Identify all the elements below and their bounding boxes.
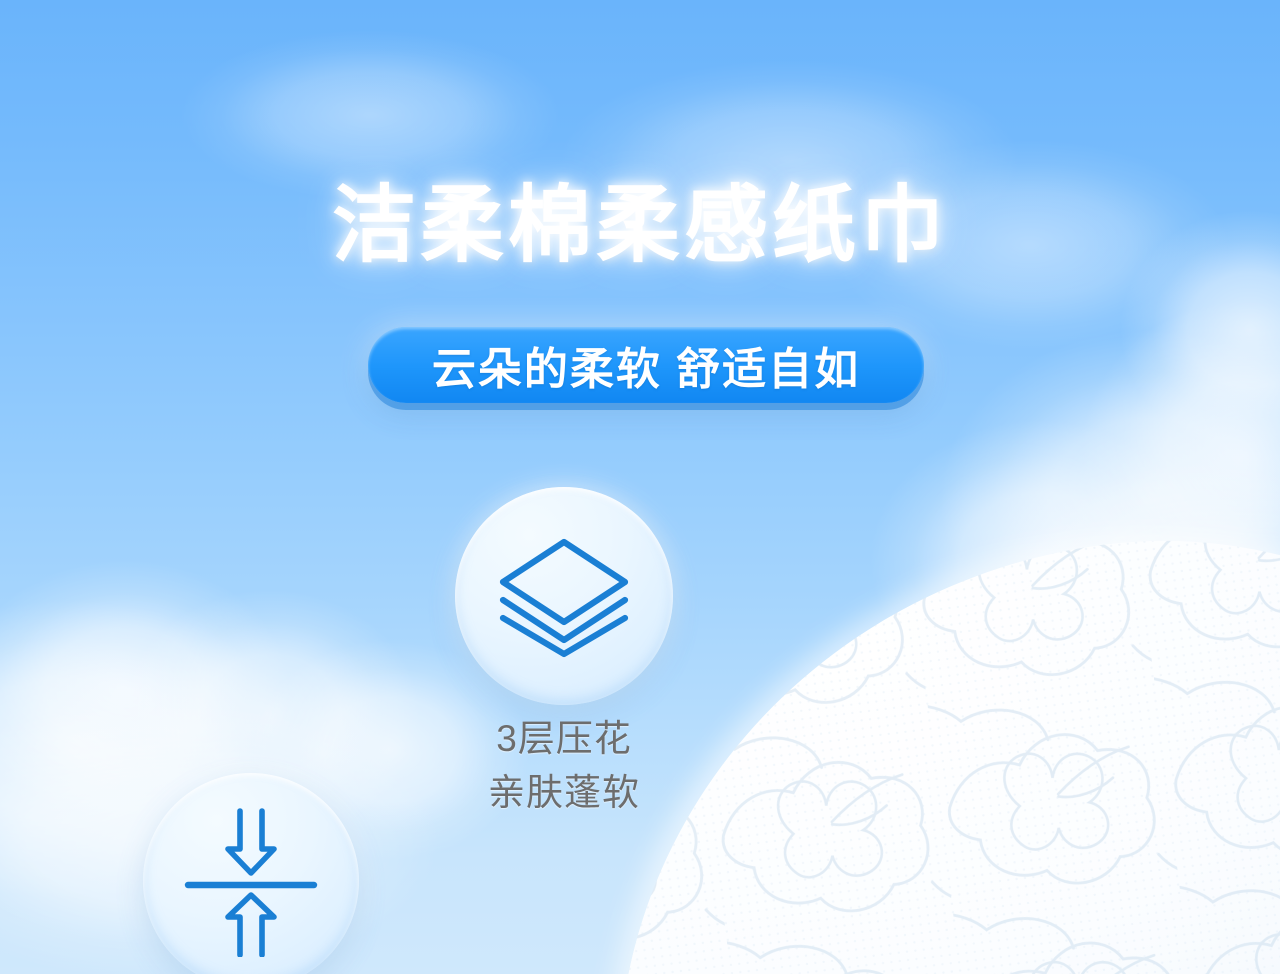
subtitle-text: 云朵的柔软 舒适自如 (432, 333, 860, 397)
subtitle-pill: 云朵的柔软 舒适自如 (368, 327, 924, 403)
feature-badge-absorb (143, 773, 359, 974)
layers-icon (495, 534, 633, 658)
two-way-absorb-icon (176, 805, 326, 957)
caption-line-2: 亲肤蓬软 (424, 766, 704, 820)
cloud-wisp (180, 30, 560, 200)
feature-badge-layers (455, 487, 673, 705)
product-poster: 洁柔棉柔感纸巾 云朵的柔软 舒适自如 3层压花 亲肤蓬软 (0, 0, 1280, 974)
page-title: 洁柔棉柔感纸巾 (0, 183, 1280, 267)
caption-line-1: 3层压花 (424, 712, 704, 766)
feature-caption-layers: 3层压花 亲肤蓬软 (424, 712, 704, 820)
